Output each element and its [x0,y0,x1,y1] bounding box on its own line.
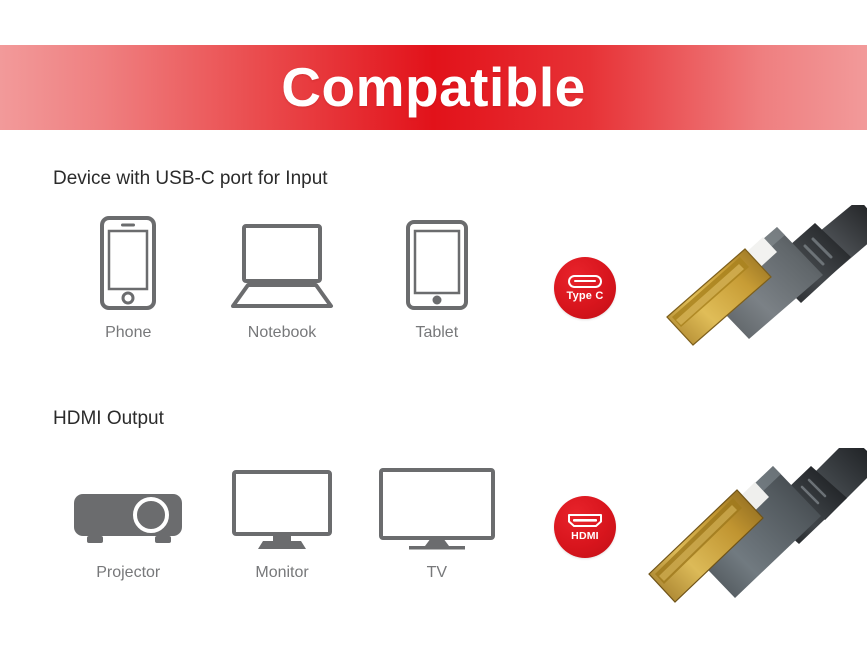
device-item-projector[interactable]: Projector [53,454,203,582]
usb-c-cable-photo [645,205,867,370]
device-label-tablet: Tablet [415,324,458,342]
usb-c-cable-graphic [645,205,867,370]
phone-icon-box [100,214,156,310]
device-label-monitor: Monitor [255,564,308,582]
device-label-notebook: Notebook [248,324,317,342]
compatible-banner: Compatible [0,45,867,130]
device-item-notebook[interactable]: Notebook [203,214,360,342]
badge-label-type-c: Type C [566,291,603,302]
device-item-phone[interactable]: Phone [53,214,203,342]
device-item-tv[interactable]: TV [361,454,513,582]
device-item-monitor[interactable]: Monitor [203,454,360,582]
banner-title: Compatible [281,60,585,115]
usb-type-c-connector-icon [568,275,602,288]
badge-hdmi: HDMI [554,496,616,558]
device-row-input: Phone Notebook Tablet [53,214,513,342]
badge-label-hdmi: HDMI [571,531,599,542]
monitor-icon [232,470,332,550]
device-row-output: Projector Monitor TV [53,454,513,582]
projector-icon [73,492,183,550]
notebook-icon [230,222,334,310]
device-label-phone: Phone [105,324,151,342]
phone-icon [100,216,156,310]
section-heading-usb-c: Device with USB-C port for Input [53,168,328,190]
tv-icon [379,468,495,550]
tv-icon-box [379,454,495,550]
section-heading-hdmi: HDMI Output [53,408,164,430]
device-item-tablet[interactable]: Tablet [361,214,513,342]
device-label-projector: Projector [96,564,160,582]
hdmi-cable-photo: equip [645,448,867,608]
hdmi-connector-shape [567,513,603,528]
hdmi-cable-graphic [645,448,867,608]
hdmi-connector-icon [567,513,603,528]
tablet-icon-box [406,214,468,310]
projector-icon-box [73,454,183,550]
device-label-tv: TV [427,564,447,582]
notebook-icon-box [230,214,334,310]
badge-type-c: Type C [554,257,616,319]
monitor-icon-box [232,454,332,550]
tablet-icon [406,220,468,310]
